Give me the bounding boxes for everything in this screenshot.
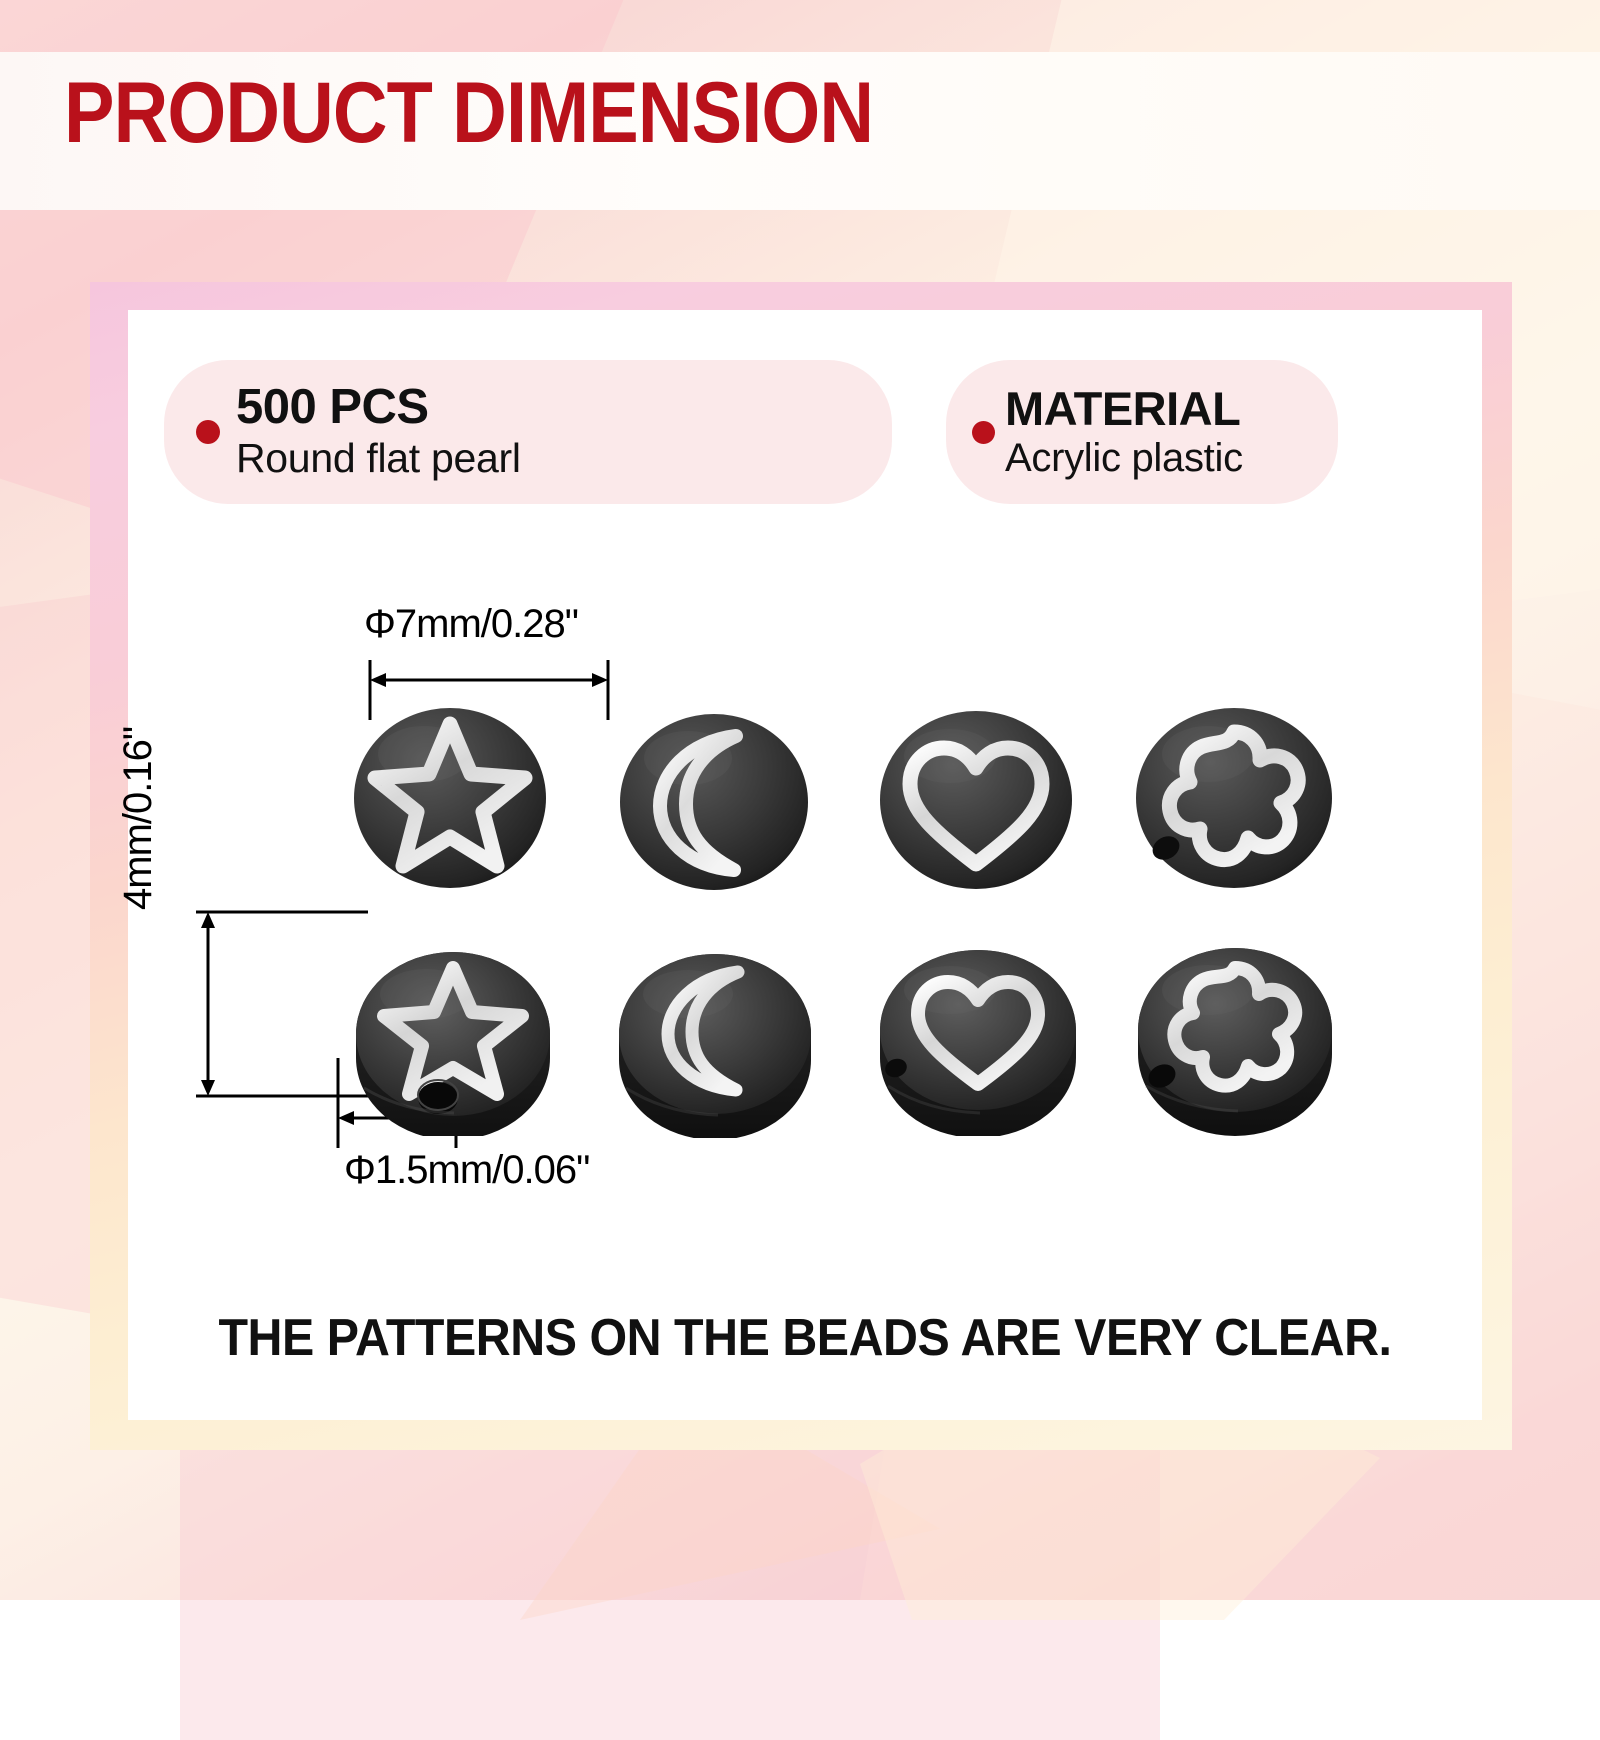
badge-material-subtitle: Acrylic plastic (1005, 436, 1243, 481)
badge-material-title: MATERIAL (1005, 384, 1243, 434)
dimension-label-hole: Φ1.5mm/0.06" (344, 1148, 589, 1193)
bead-star-angled (350, 938, 556, 1136)
badge-material: MATERIAL Acrylic plastic (946, 360, 1338, 504)
content-card: 500 PCS Round flat pearl MATERIAL Acryli… (128, 310, 1482, 1420)
bead-moon-top (616, 708, 812, 894)
bead-flower-top (1132, 702, 1336, 894)
footer-caption: THE PATTERNS ON THE BEADS ARE VERY CLEAR… (175, 1308, 1434, 1368)
badge-quantity: 500 PCS Round flat pearl (164, 360, 892, 504)
dimension-label-thickness: 4mm/0.16" (116, 727, 161, 910)
content-frame: 500 PCS Round flat pearl MATERIAL Acryli… (90, 282, 1512, 1450)
badge-quantity-title: 500 PCS (236, 382, 521, 434)
page-title: PRODUCT DIMENSION (64, 70, 873, 156)
bead-heart-top (876, 706, 1076, 894)
badge-quantity-subtitle: Round flat pearl (236, 436, 521, 482)
bullet-dot-icon (196, 420, 220, 444)
bead-heart-angled (874, 936, 1080, 1136)
bullet-dot-icon (972, 421, 995, 444)
bead-moon-angled (614, 940, 816, 1138)
bead-flower-angled (1132, 934, 1338, 1136)
dimension-label-diameter: Φ7mm/0.28" (364, 602, 578, 647)
bead-star-top (350, 702, 550, 892)
